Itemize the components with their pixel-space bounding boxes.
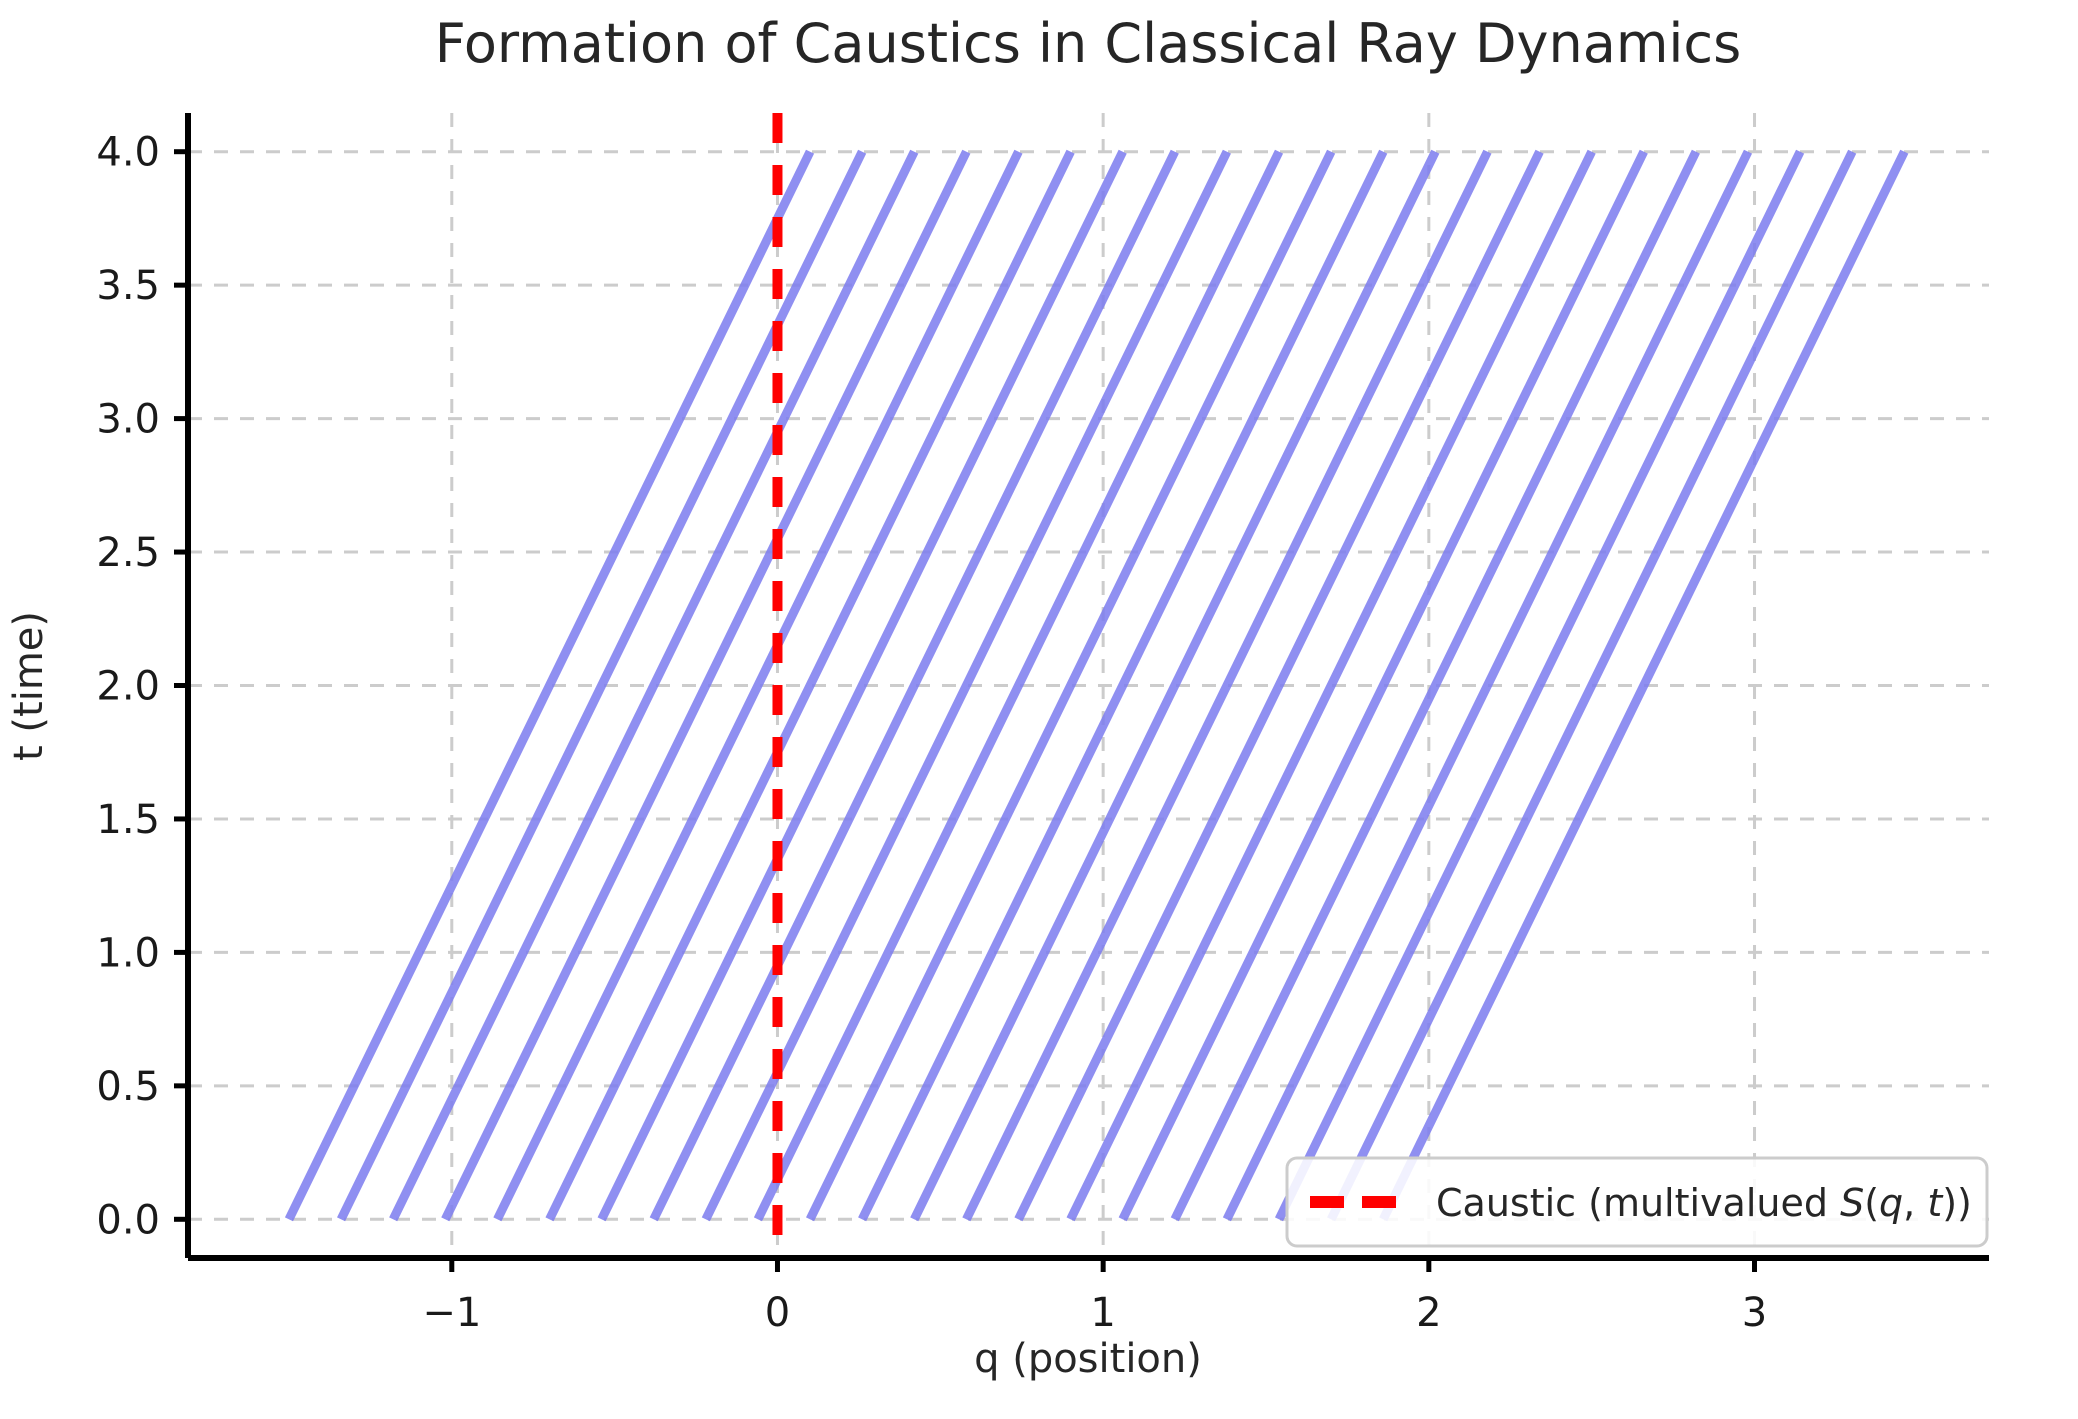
y-ticklabel: 3.0 — [96, 397, 160, 443]
legend-text-suffix: )) — [1942, 1181, 1972, 1225]
y-ticklabel: 3.5 — [96, 263, 160, 309]
legend-text-prefix: Caustic (multivalued — [1436, 1181, 1840, 1225]
y-ticklabel: 2.0 — [96, 664, 160, 710]
y-ticklabel: 1.5 — [96, 797, 160, 843]
x-ticklabel: −1 — [422, 1290, 481, 1336]
y-axis-label: t (time) — [6, 611, 52, 761]
chart-title: Formation of Caustics in Classical Ray D… — [435, 12, 1742, 75]
x-ticklabel: 3 — [1742, 1290, 1767, 1336]
y-ticklabel: 0.5 — [96, 1064, 160, 1110]
legend-text-math-comma: , — [1903, 1181, 1927, 1225]
x-ticklabel: 1 — [1090, 1290, 1115, 1336]
chart-svg: −10123 0.00.51.01.52.02.53.03.54.0 Forma… — [0, 0, 2078, 1419]
legend-text-math-q: q — [1879, 1181, 1903, 1225]
y-ticklabel: 2.5 — [96, 530, 160, 576]
x-axis-ticklabels: −10123 — [422, 1290, 1767, 1336]
legend-label-caustic: Caustic (multivalued S(q, t)) — [1436, 1181, 1972, 1225]
legend-text-math-s: S — [1840, 1181, 1864, 1225]
y-ticklabel: 0.0 — [96, 1197, 160, 1243]
y-axis-ticklabels: 0.00.51.01.52.02.53.03.54.0 — [96, 130, 160, 1244]
figure-canvas: −10123 0.00.51.01.52.02.53.03.54.0 Forma… — [0, 0, 2078, 1419]
legend[interactable]: Caustic (multivalued S(q, t)) — [1287, 1158, 1987, 1246]
y-ticklabel: 1.0 — [96, 930, 160, 976]
x-axis-label: q (position) — [974, 1336, 1202, 1382]
x-ticklabel: 0 — [765, 1290, 790, 1336]
x-ticklabel: 2 — [1416, 1290, 1441, 1336]
y-ticklabel: 4.0 — [96, 130, 160, 176]
legend-text-math-open: ( — [1864, 1181, 1879, 1225]
